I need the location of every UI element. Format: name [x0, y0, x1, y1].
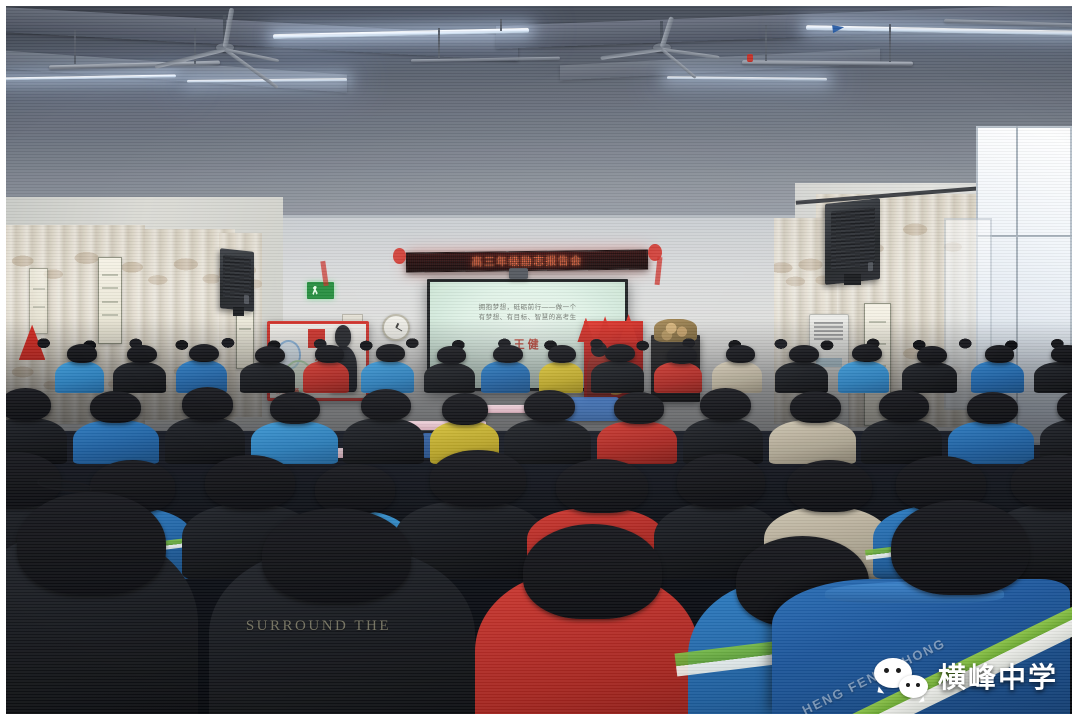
student-head — [1057, 390, 1072, 423]
wechat-bubble-small — [899, 675, 928, 698]
student-head — [67, 344, 97, 363]
speaker-mount — [233, 307, 244, 316]
light-suspension-rod — [500, 19, 502, 32]
student-head — [726, 345, 756, 363]
running-man-icon — [312, 286, 319, 296]
wall-speaker — [825, 198, 880, 285]
foreground-student-head-left — [17, 492, 166, 595]
student-head — [605, 344, 635, 362]
student-head — [189, 344, 219, 363]
student-head — [700, 388, 751, 421]
student-head — [6, 388, 51, 421]
lecture-hall-scene: 高三年级励志报告会 拥抱梦想，砥砺前行——做一个 有梦想、有目标、智慧的高考生 … — [6, 6, 1072, 714]
student-head — [790, 391, 841, 423]
student-head — [255, 346, 285, 364]
fluorescent-tube-lit — [667, 76, 827, 80]
photo-frame: 高三年级励志报告会 拥抱梦想，砥砺前行——做一个 有梦想、有目标、智慧的高考生 … — [0, 0, 1080, 722]
student-head — [270, 392, 321, 424]
student-head — [442, 393, 488, 425]
student-head — [361, 389, 412, 422]
wechat-eye — [916, 683, 920, 687]
speaker-led-icon — [245, 295, 250, 305]
speaker-mount — [844, 274, 861, 285]
student-head — [985, 345, 1015, 363]
ceiling-projector — [509, 268, 528, 279]
student-head — [677, 454, 764, 509]
wechat-eye — [896, 668, 901, 673]
fluorescent-tube-lit — [6, 74, 177, 80]
light-suspension-rod — [74, 30, 76, 64]
banner-rosette — [393, 248, 406, 264]
wechat-eye — [884, 668, 889, 673]
student-head — [548, 345, 576, 363]
student-head — [1051, 345, 1072, 363]
light-suspension-rod — [438, 28, 440, 59]
wechat-account-name: 横峰中学 — [938, 664, 1058, 692]
student-head — [127, 345, 157, 363]
light-suspension-rod — [889, 24, 891, 62]
student-head — [430, 450, 527, 507]
light-suspension-rod — [765, 25, 767, 61]
speaker-grill — [830, 207, 874, 270]
speaker-led-icon — [867, 261, 872, 271]
student-head — [967, 392, 1018, 424]
student-head — [90, 391, 141, 423]
student-head — [917, 346, 947, 364]
student-head — [614, 392, 665, 424]
student-head — [667, 346, 697, 364]
student-head — [437, 346, 467, 364]
wechat-watermark: 横峰中学 — [874, 658, 1058, 698]
student-head — [879, 390, 930, 423]
student-head — [205, 455, 295, 510]
student-head — [556, 459, 648, 514]
foreground-student-head-right — [891, 500, 1030, 595]
student-head — [1011, 455, 1072, 510]
student-head — [376, 344, 406, 362]
student-head — [789, 345, 819, 363]
fan-blade — [600, 48, 662, 60]
student-head — [787, 460, 872, 512]
student-head — [493, 345, 523, 363]
foreground-student-head-jacket — [262, 508, 411, 603]
student-head — [315, 345, 345, 363]
wechat-eye — [906, 683, 910, 687]
exit-sign — [307, 282, 335, 299]
wall-speaker — [220, 248, 254, 312]
ceiling-beam — [6, 49, 347, 92]
audience-area: SURROUND THE HENG FENG ZHONG — [6, 318, 1072, 714]
wechat-icon — [874, 658, 928, 698]
jacket-text: SURROUND THE — [246, 618, 391, 635]
ceiling-beam — [496, 6, 1072, 48]
student-head — [524, 390, 575, 423]
student-head — [315, 464, 396, 515]
student-head — [852, 344, 882, 362]
student-head — [182, 387, 233, 420]
ceiling-alarm-icon — [747, 54, 753, 62]
slide-line-1: 拥抱梦想，砥砺前行——做一个 — [479, 303, 577, 313]
foreground-student-head-red — [523, 524, 662, 619]
fluorescent-tube-unlit — [411, 57, 560, 63]
